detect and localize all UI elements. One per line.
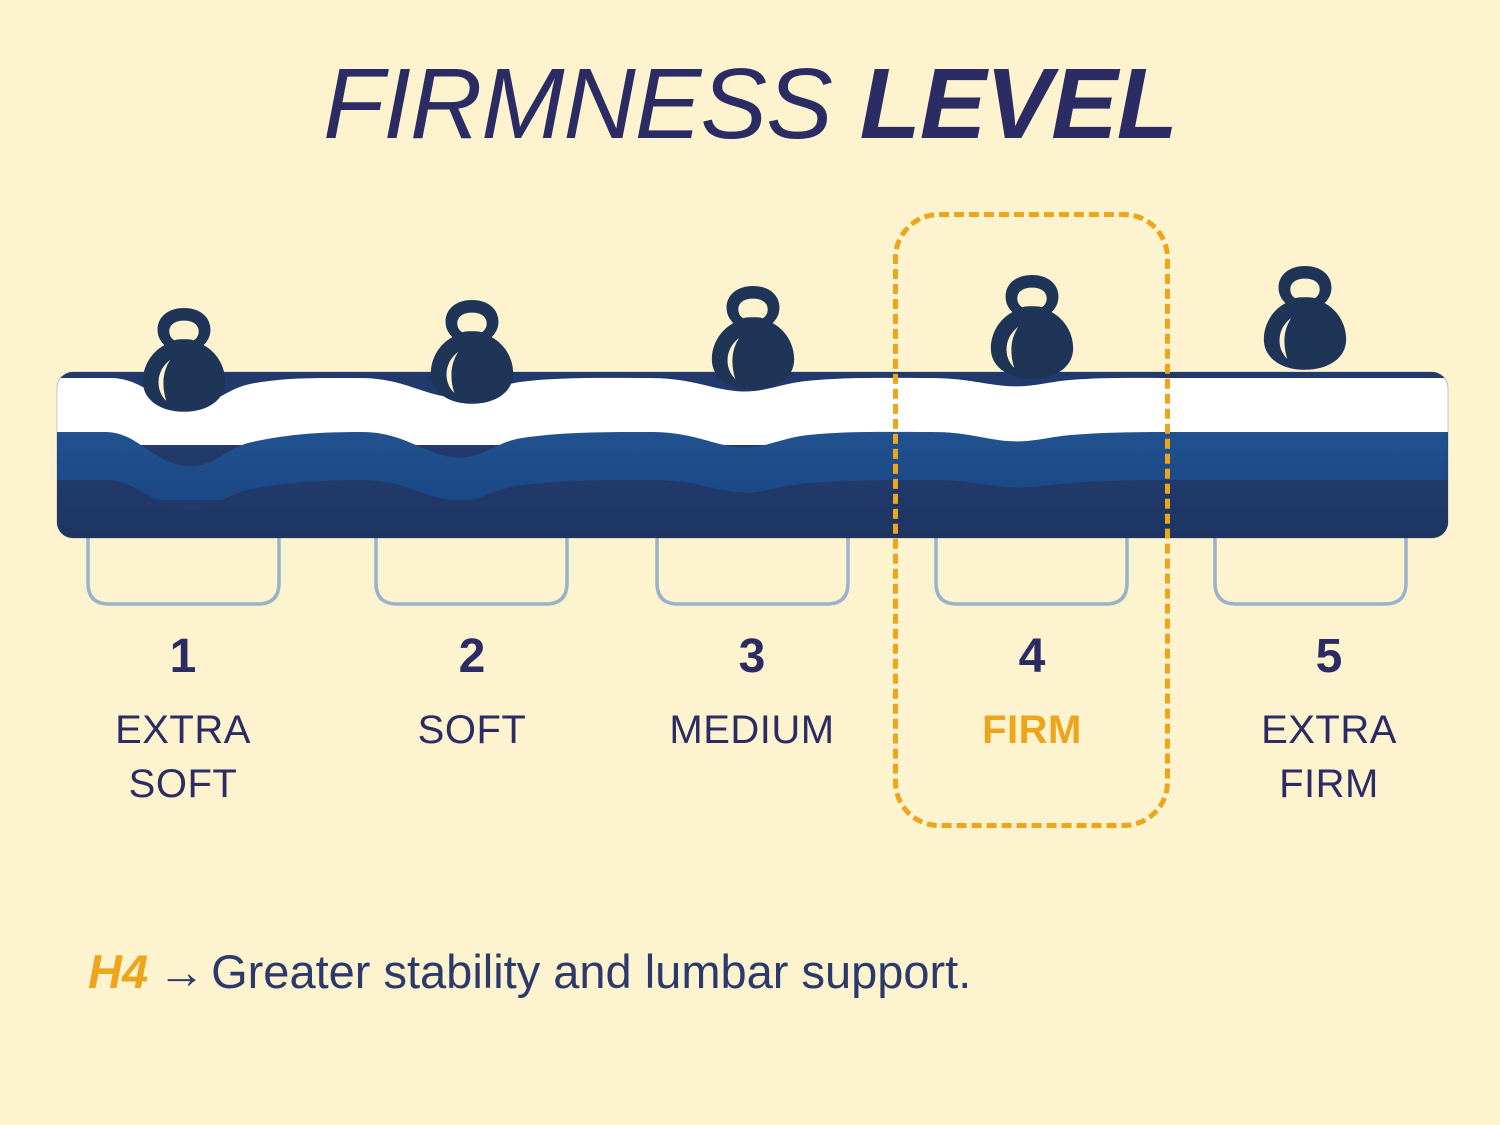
level-label-line1: EXTRA [1209, 703, 1449, 757]
kettlebell-icon-level-5 [1256, 263, 1354, 373]
scale-level-1[interactable]: 1 EXTRA SOFT [63, 633, 303, 811]
level-label-line1: EXTRA [63, 703, 303, 757]
kettlebell-icon-level-1 [135, 305, 233, 415]
level-label: EXTRA SOFT [63, 703, 303, 811]
level-number: 5 [1209, 633, 1449, 681]
footnote-text: Greater stability and lumbar support. [211, 945, 971, 998]
level-label-line1: SOFT [352, 703, 592, 757]
level-label-line2: FIRM [1209, 757, 1449, 811]
kettlebell-icon-level-3 [704, 283, 802, 393]
scale-level-3[interactable]: 3 MEDIUM [632, 633, 872, 757]
footnote: H4→Greater stability and lumbar support. [88, 948, 971, 995]
level-label: EXTRA FIRM [1209, 703, 1449, 811]
level-number: 2 [352, 633, 592, 681]
scale-level-2[interactable]: 2 SOFT [352, 633, 592, 757]
footnote-code: H4 [88, 945, 148, 998]
level-label-line1: MEDIUM [632, 703, 872, 757]
kettlebell-icon-level-2 [423, 297, 521, 407]
level-number: 1 [63, 633, 303, 681]
level-label: MEDIUM [632, 703, 872, 757]
arrow-right-icon: → [148, 945, 211, 998]
mattress-support-legs [88, 536, 1406, 604]
scale-level-5[interactable]: 5 EXTRA FIRM [1209, 633, 1449, 811]
level-number: 3 [632, 633, 872, 681]
level-label-line2: SOFT [63, 757, 303, 811]
selected-level-highlight[interactable] [893, 212, 1170, 828]
level-label: SOFT [352, 703, 592, 757]
